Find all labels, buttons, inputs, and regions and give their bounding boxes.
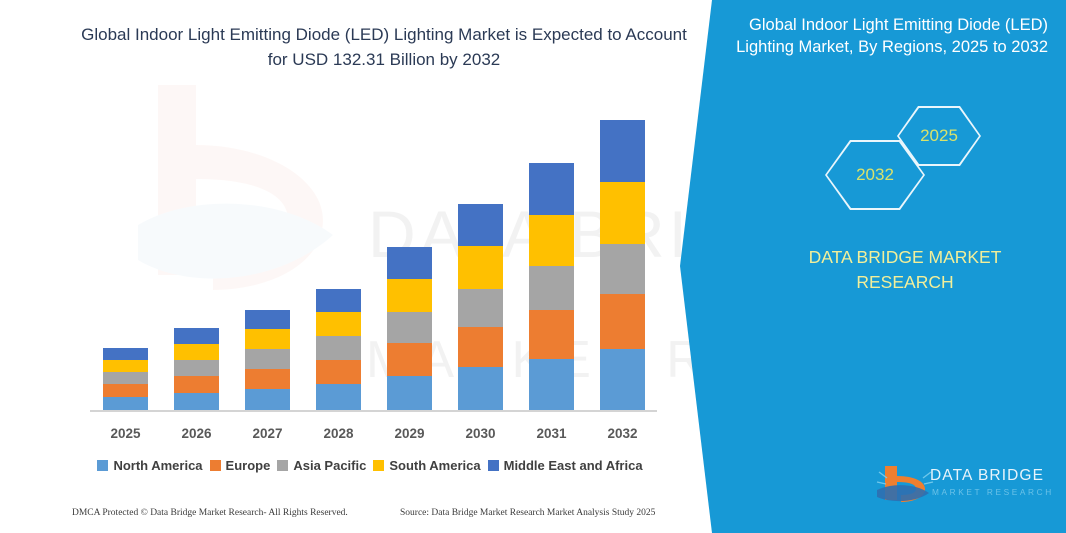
page-title: Global Indoor Light Emitting Diode (LED)…	[72, 22, 696, 72]
x-axis-line	[90, 410, 657, 412]
x-axis-label-2031: 2031	[517, 426, 587, 441]
segment-middle-east-and-africa-2025	[103, 348, 148, 360]
segment-middle-east-and-africa-2028	[316, 289, 361, 312]
x-axis-label-2032: 2032	[588, 426, 658, 441]
legend-label: North America	[113, 458, 202, 473]
bar-2026	[174, 328, 219, 411]
copyright-text: DMCA Protected © Data Bridge Market Rese…	[72, 508, 348, 518]
segment-south-america-2030	[458, 246, 503, 288]
segment-south-america-2031	[529, 215, 574, 266]
segment-south-america-2028	[316, 312, 361, 336]
logo-tagline: MARKET RESEARCH	[932, 487, 1054, 497]
segment-north-america-2030	[458, 367, 503, 411]
segment-north-america-2028	[316, 384, 361, 411]
segment-middle-east-and-africa-2031	[529, 163, 574, 215]
legend-item-south-america[interactable]: South America	[373, 458, 480, 473]
hexagon-start-year: 2025	[897, 106, 981, 166]
segment-north-america-2032	[600, 349, 645, 411]
bar-2030	[458, 204, 503, 411]
segment-europe-2030	[458, 327, 503, 367]
segment-asia-pacific-2030	[458, 289, 503, 327]
segment-asia-pacific-2029	[387, 312, 432, 343]
legend-label: South America	[389, 458, 480, 473]
panel-title: Global Indoor Light Emitting Diode (LED)…	[700, 14, 1048, 58]
segment-europe-2031	[529, 310, 574, 359]
segment-middle-east-and-africa-2032	[600, 120, 645, 182]
segment-south-america-2032	[600, 182, 645, 245]
bar-2025	[103, 348, 148, 411]
segment-south-america-2025	[103, 360, 148, 372]
segment-middle-east-and-africa-2026	[174, 328, 219, 344]
hexagon-start-year-label: 2025	[897, 106, 981, 166]
segment-asia-pacific-2025	[103, 372, 148, 384]
segment-south-america-2027	[245, 329, 290, 349]
x-axis-label-2030: 2030	[446, 426, 516, 441]
legend-item-middle-east-and-africa[interactable]: Middle East and Africa	[488, 458, 643, 473]
segment-middle-east-and-africa-2027	[245, 310, 290, 329]
x-axis-label-2025: 2025	[91, 426, 161, 441]
x-axis-label-2029: 2029	[375, 426, 445, 441]
segment-asia-pacific-2028	[316, 336, 361, 359]
legend-swatch-icon	[488, 460, 499, 471]
segment-europe-2028	[316, 360, 361, 385]
legend-swatch-icon	[210, 460, 221, 471]
chart-legend: North AmericaEuropeAsia PacificSouth Ame…	[0, 458, 740, 473]
segment-asia-pacific-2032	[600, 244, 645, 294]
x-axis-label-2028: 2028	[304, 426, 374, 441]
segment-north-america-2026	[174, 393, 219, 411]
segment-north-america-2025	[103, 397, 148, 411]
source-text: Source: Data Bridge Market Research Mark…	[400, 508, 655, 518]
legend-label: Middle East and Africa	[504, 458, 643, 473]
infographic-canvas: DATA BRIDGE MARKET RESEARCH Global Indoo…	[0, 0, 1066, 533]
bar-2031	[529, 163, 574, 411]
stacked-bar-chart	[90, 120, 665, 411]
segment-south-america-2026	[174, 344, 219, 360]
bar-2027	[245, 310, 290, 411]
segment-north-america-2029	[387, 376, 432, 411]
segment-europe-2029	[387, 343, 432, 376]
legend-swatch-icon	[97, 460, 108, 471]
segment-asia-pacific-2031	[529, 266, 574, 311]
segment-asia-pacific-2026	[174, 360, 219, 376]
segment-north-america-2027	[245, 389, 290, 411]
segment-asia-pacific-2027	[245, 349, 290, 368]
segment-europe-2032	[600, 294, 645, 349]
segment-europe-2026	[174, 376, 219, 393]
segment-north-america-2031	[529, 359, 574, 411]
legend-label: Europe	[226, 458, 271, 473]
logo-wordmark: DATA BRIDGE	[930, 467, 1044, 485]
legend-item-north-america[interactable]: North America	[97, 458, 202, 473]
x-axis-label-2026: 2026	[162, 426, 232, 441]
legend-label: Asia Pacific	[293, 458, 366, 473]
brand-name: DATA BRIDGE MARKET RESEARCH	[760, 245, 1050, 295]
legend-item-europe[interactable]: Europe	[210, 458, 271, 473]
bar-2029	[387, 247, 432, 411]
bar-2032	[600, 120, 645, 411]
segment-middle-east-and-africa-2029	[387, 247, 432, 279]
legend-item-asia-pacific[interactable]: Asia Pacific	[277, 458, 366, 473]
x-axis-label-2027: 2027	[233, 426, 303, 441]
bar-2028	[316, 289, 361, 411]
segment-middle-east-and-africa-2030	[458, 204, 503, 246]
legend-swatch-icon	[277, 460, 288, 471]
segment-south-america-2029	[387, 279, 432, 312]
legend-swatch-icon	[373, 460, 384, 471]
segment-europe-2027	[245, 369, 290, 390]
segment-europe-2025	[103, 384, 148, 397]
